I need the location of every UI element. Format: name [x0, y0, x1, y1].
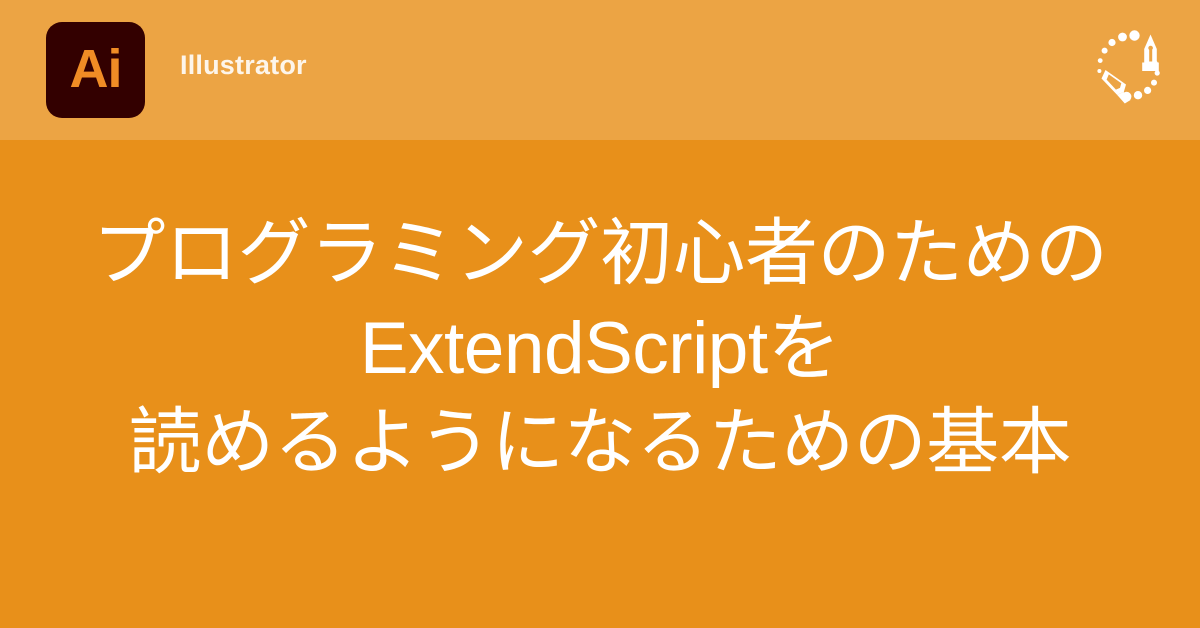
title-line-1: プログラミング初心者のための: [93, 207, 1108, 302]
pen-nib-dotted-circle-icon: [1095, 22, 1175, 112]
title-block: プログラミング初心者のための ExtendScriptを 読めるようになるための…: [0, 140, 1200, 628]
adobe-illustrator-logo: Ai: [46, 22, 145, 118]
article-thumbnail-card: Ai Illustrator: [0, 0, 1200, 628]
title-line-2: ExtendScriptを: [360, 302, 840, 397]
app-name-label: Illustrator: [180, 52, 307, 79]
header-band: Ai Illustrator: [0, 0, 1200, 140]
title-line-3: 読めるようになるための基本: [129, 396, 1072, 491]
adobe-illustrator-logo-label: Ai: [70, 42, 122, 96]
